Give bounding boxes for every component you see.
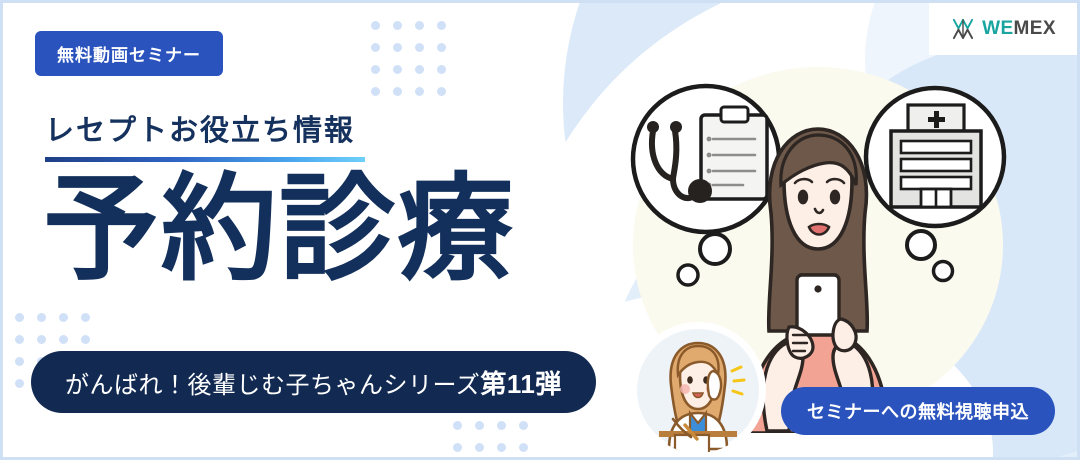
logo-we-text: WE: [982, 18, 1013, 39]
subtitle-text: レセプトお役立ち情報: [45, 107, 365, 149]
series-banner: がんばれ！後輩じむ子ちゃんシリーズ 第11弾: [31, 351, 596, 413]
subtitle-block: レセプトお役立ち情報: [45, 107, 365, 162]
dot-grid-top: [371, 21, 459, 109]
subtitle-underline: [45, 157, 365, 162]
series-volume: 第11弾: [480, 364, 562, 401]
series-label: がんばれ！後輩じむ子ちゃんシリーズ: [65, 365, 480, 400]
wemex-crossed-lines-icon: [950, 16, 976, 42]
receptionist-avatar-art: [635, 327, 761, 453]
free-seminar-badge: 無料動画セミナー: [35, 31, 223, 76]
logo-mex-text: MEX: [1014, 18, 1056, 39]
receptionist-on-phone-avatar: [635, 327, 761, 453]
page-title: 予約診療: [43, 171, 515, 287]
seminar-banner: WEMEX 無料動画セミナー レセプトお役立ち情報 予約診療 がんばれ！後輩じむ…: [0, 0, 1080, 460]
dot-grid-bottom: [453, 421, 541, 460]
wemex-logo-text: WEMEX: [982, 18, 1056, 40]
wemex-logo[interactable]: WEMEX: [929, 3, 1077, 55]
seminar-signup-button[interactable]: セミナーへの無料視聴申込: [781, 387, 1055, 435]
